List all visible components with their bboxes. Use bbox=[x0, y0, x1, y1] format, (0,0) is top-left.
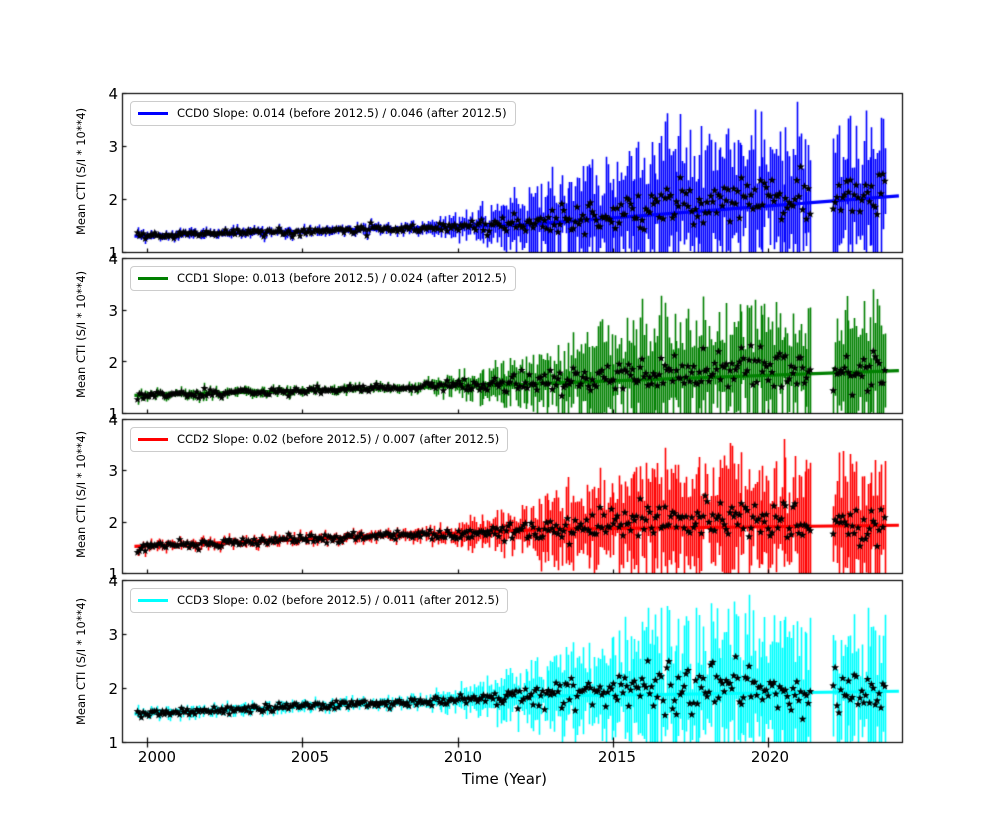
x-axis-label: Time (Year) bbox=[462, 770, 547, 788]
y-axis-label-ccd2: Mean CTI (S/I * 10**4) bbox=[74, 431, 88, 558]
x-tick-2020: 2020 bbox=[735, 748, 805, 766]
legend-swatch-ccd2 bbox=[138, 438, 168, 441]
y-tick-ccd3-4: 4 bbox=[92, 572, 118, 590]
y-tick-ccd0-4: 4 bbox=[92, 85, 118, 103]
legend-label-ccd0: CCD0 Slope: 0.014 (before 2012.5) / 0.04… bbox=[177, 108, 507, 120]
legend-ccd3[interactable]: CCD3 Slope: 0.02 (before 2012.5) / 0.011… bbox=[130, 588, 508, 613]
y-tick-ccd0-3: 3 bbox=[92, 138, 118, 156]
x-tick-2005: 2005 bbox=[275, 748, 345, 766]
legend-ccd1[interactable]: CCD1 Slope: 0.013 (before 2012.5) / 0.02… bbox=[130, 266, 516, 291]
y-axis-label-ccd3: Mean CTI (S/I * 10**4) bbox=[74, 598, 88, 725]
y-axis-label-ccd0: Mean CTI (S/I * 10**4) bbox=[74, 108, 88, 235]
y-tick-ccd2-2: 2 bbox=[92, 514, 118, 532]
y-tick-ccd1-2: 2 bbox=[92, 354, 118, 372]
legend-swatch-ccd3 bbox=[138, 599, 168, 602]
cti-trend-figure: Mean CTI (S/I * 10**4) 1 2 3 4 CCD0 Slop… bbox=[0, 0, 1000, 832]
x-tick-2015: 2015 bbox=[582, 748, 652, 766]
y-tick-ccd2-4: 4 bbox=[92, 411, 118, 429]
y-axis-label-ccd1: Mean CTI (S/I * 10**4) bbox=[74, 271, 88, 398]
legend-label-ccd1: CCD1 Slope: 0.013 (before 2012.5) / 0.02… bbox=[177, 273, 507, 285]
legend-ccd2[interactable]: CCD2 Slope: 0.02 (before 2012.5) / 0.007… bbox=[130, 427, 508, 452]
legend-label-ccd2: CCD2 Slope: 0.02 (before 2012.5) / 0.007… bbox=[177, 434, 499, 446]
y-tick-ccd3-1: 1 bbox=[92, 734, 118, 752]
y-tick-ccd2-3: 3 bbox=[92, 462, 118, 480]
y-tick-ccd1-4: 4 bbox=[92, 250, 118, 268]
legend-swatch-ccd1 bbox=[138, 277, 168, 280]
y-tick-ccd3-2: 2 bbox=[92, 680, 118, 698]
y-tick-ccd1-3: 3 bbox=[92, 302, 118, 320]
legend-swatch-ccd0 bbox=[138, 112, 168, 115]
y-tick-ccd0-2: 2 bbox=[92, 191, 118, 209]
legend-ccd0[interactable]: CCD0 Slope: 0.014 (before 2012.5) / 0.04… bbox=[130, 101, 516, 126]
legend-label-ccd3: CCD3 Slope: 0.02 (before 2012.5) / 0.011… bbox=[177, 595, 499, 607]
x-tick-2000: 2000 bbox=[122, 748, 192, 766]
x-tick-2010: 2010 bbox=[428, 748, 498, 766]
y-tick-ccd3-3: 3 bbox=[92, 626, 118, 644]
